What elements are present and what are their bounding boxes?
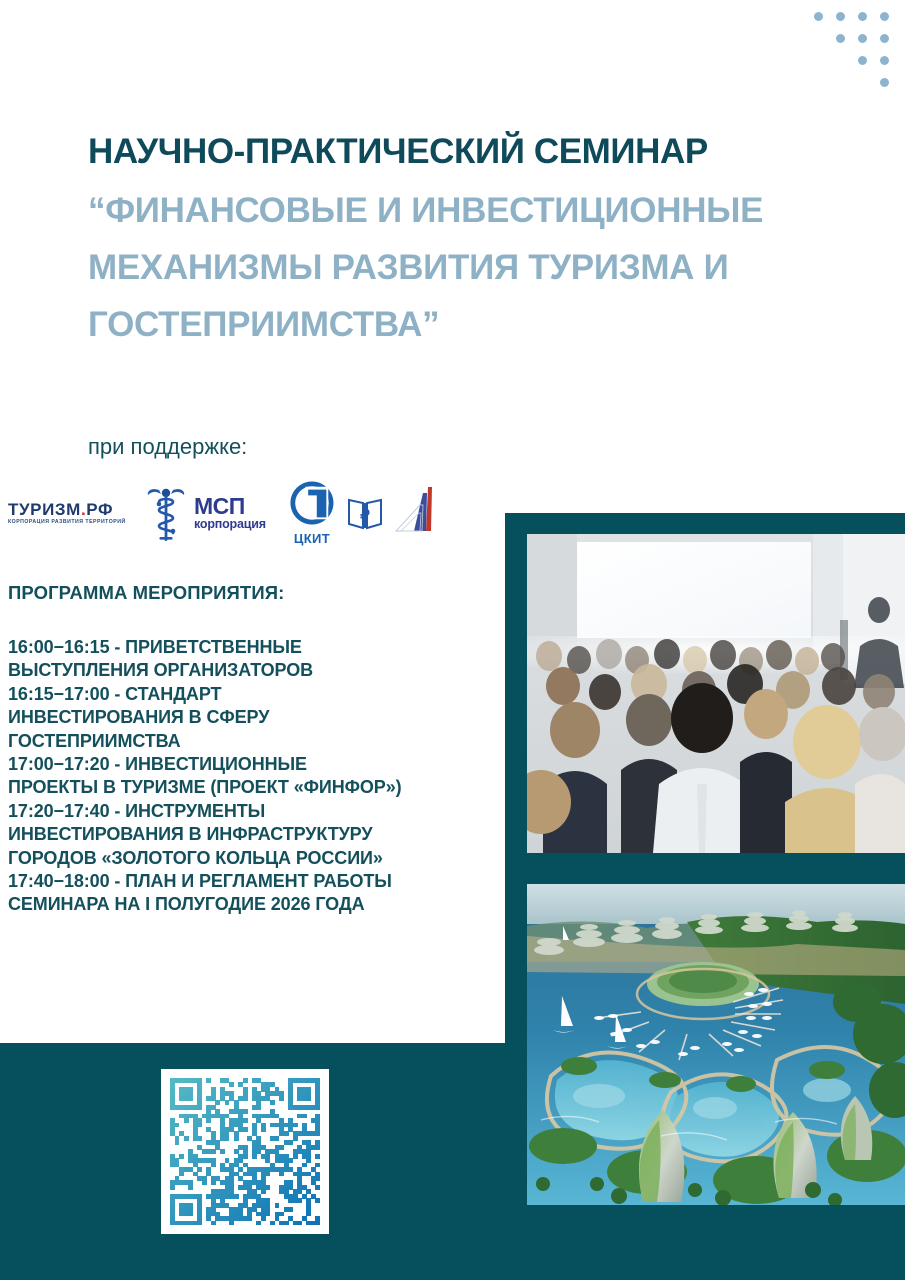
tourism-rf-logo: ТУРИЗМ.РФ КОРПОРАЦИЯ РАЗВИТИЯ ТЕРРИТОРИЙ (8, 501, 138, 525)
decorative-dot (836, 34, 845, 43)
program-block: ПРОГРАММА МЕРОПРИЯТИЯ: 16:00−16:15 - ПРИ… (0, 560, 505, 927)
decorative-dot (880, 78, 889, 87)
msp-korporaciya-logo: МСП корпорация (194, 496, 278, 530)
decorative-dot (880, 34, 889, 43)
page-title: НАУЧНО-ПРАКТИЧЕСКИЙ СЕМИНАР (88, 132, 788, 171)
qr-module (315, 1154, 320, 1159)
registration-qr-code[interactable] (161, 1069, 329, 1234)
qr-module (275, 1136, 280, 1141)
qr-module (206, 1118, 211, 1123)
tourism-rf-subtitle: КОРПОРАЦИЯ РАЗВИТИЯ ТЕРРИТОРИЙ (8, 520, 138, 525)
qr-module (197, 1136, 202, 1141)
qr-module (261, 1216, 266, 1221)
qr-module (261, 1127, 266, 1132)
qr-module (288, 1158, 293, 1163)
qr-module (243, 1118, 248, 1123)
qr-module (243, 1127, 248, 1132)
dot-grid-decoration (793, 12, 889, 90)
headline-quoted-line-3: ГОСТЕПРИИМСТВА” (88, 297, 788, 354)
qr-module (265, 1172, 270, 1177)
qr-matrix (170, 1078, 320, 1225)
qr-module (211, 1163, 216, 1168)
qr-module (284, 1221, 289, 1225)
headline-quoted-line-1: “ФИНАНСОВЫЕ И ИНВЕСТИЦИОННЫЕ (88, 183, 788, 240)
decorative-dot (836, 12, 845, 21)
program-item: 17:00−17:20 - ИНВЕСТИЦИОННЫЕ (8, 753, 497, 776)
qr-module (302, 1114, 307, 1119)
qr-module (234, 1194, 239, 1199)
conference-audience-photo (527, 534, 905, 853)
qr-module (229, 1221, 234, 1225)
tourism-rf-suffix: РФ (86, 500, 113, 519)
qr-module (315, 1131, 320, 1136)
program-item: 17:40−18:00 - ПЛАН И РЕГЛАМЕНТ РАБОТЫ (8, 870, 497, 893)
qr-module (270, 1100, 275, 1105)
qr-module (256, 1221, 261, 1225)
decorative-dot (880, 56, 889, 65)
ckit-logo: ЦКИТ (286, 481, 338, 546)
qr-module (279, 1096, 284, 1101)
decorative-dot (858, 56, 867, 65)
qr-module (220, 1149, 225, 1154)
qr-module (247, 1216, 252, 1221)
sponsor-logos-row: ТУРИЗМ.РФ КОРПОРАЦИЯ РАЗВИТИЯ ТЕРРИТОРИЙ (8, 474, 500, 552)
eco-resort-rendering-photo (527, 884, 905, 1205)
qr-module (306, 1096, 311, 1101)
qr-module (175, 1140, 180, 1145)
qr-module (288, 1140, 293, 1145)
qr-module (211, 1149, 216, 1154)
decorative-dot (858, 34, 867, 43)
qr-module (293, 1154, 298, 1159)
decorative-dot (814, 12, 823, 21)
qr-module (279, 1212, 284, 1217)
qr-module (315, 1105, 320, 1110)
qr-module (184, 1118, 189, 1123)
qr-module (206, 1078, 211, 1083)
qr-module (243, 1078, 248, 1083)
qr-module (306, 1158, 311, 1163)
decorative-dot (880, 12, 889, 21)
msp-subtitle: корпорация (194, 518, 278, 531)
qr-module (188, 1096, 193, 1101)
support-label: при поддержке: (88, 434, 247, 460)
program-item: ГОСТЕПРИИМСТВА (8, 730, 497, 753)
program-title: ПРОГРАММА МЕРОПРИЯТИЯ: (8, 582, 497, 604)
program-item: 17:20−17:40 - ИНСТРУМЕНТЫ (8, 800, 497, 823)
qr-module (279, 1172, 284, 1177)
qr-module (211, 1221, 216, 1225)
ruble-symbol: ₽ (360, 508, 370, 524)
qr-module (211, 1180, 216, 1185)
qr-module (197, 1123, 202, 1128)
qr-module (243, 1154, 248, 1159)
qr-module (315, 1163, 320, 1168)
qr-module (265, 1185, 270, 1190)
qr-module (256, 1105, 261, 1110)
qr-module (229, 1082, 234, 1087)
qr-module (188, 1212, 193, 1217)
program-item: ГОРОДОВ «ЗОЛОТОГО КОЛЬЦА РОССИИ» (8, 847, 497, 870)
qr-module (202, 1180, 207, 1185)
qr-module (215, 1100, 220, 1105)
book-ruble-logo: ₽ (346, 493, 384, 533)
qr-module (275, 1203, 280, 1208)
qr-module (284, 1131, 289, 1136)
qr-module (170, 1185, 175, 1190)
program-item: 16:00−16:15 - ПРИВЕТСТВЕННЫЕ (8, 636, 497, 659)
qr-module (315, 1221, 320, 1225)
headline-quoted: “ФИНАНСОВЫЕ И ИНВЕСТИЦИОННЫЕ МЕХАНИЗМЫ Р… (88, 183, 788, 353)
tourism-rf-wordmark: ТУРИЗМ.РФ (8, 501, 138, 518)
qr-module (175, 1123, 180, 1128)
msp-wordmark: МСП (194, 496, 278, 518)
sail-flag-logo (392, 483, 438, 543)
program-item: ИНВЕСТИРОВАНИЯ В ИНФРАСТРУКТУРУ (8, 823, 497, 846)
qr-module (243, 1096, 248, 1101)
qr-module (225, 1100, 230, 1105)
qr-module (243, 1109, 248, 1114)
qr-module (297, 1221, 302, 1225)
qr-module (315, 1145, 320, 1150)
qr-module (315, 1176, 320, 1181)
seminar-poster: НАУЧНО-ПРАКТИЧЕСКИЙ СЕМИНАР “ФИНАНСОВЫЕ … (0, 0, 905, 1280)
qr-module (315, 1185, 320, 1190)
qr-module (188, 1185, 193, 1190)
qr-module (261, 1189, 266, 1194)
program-item: ИНВЕСТИРОВАНИЯ В СФЕРУ (8, 706, 497, 729)
program-item: ВЫСТУПЛЕНИЯ ОРГАНИЗАТОРОВ (8, 659, 497, 682)
program-list: 16:00−16:15 - ПРИВЕТСТВЕННЫЕВЫСТУПЛЕНИЯ … (8, 636, 497, 917)
qr-module (302, 1163, 307, 1168)
program-item: 16:15−17:00 - СТАНДАРТ (8, 683, 497, 706)
qr-module (197, 1105, 202, 1110)
qr-module (179, 1172, 184, 1177)
qr-module (184, 1136, 189, 1141)
qr-module (293, 1136, 298, 1141)
qr-module (197, 1167, 202, 1172)
qr-module (225, 1136, 230, 1141)
ckit-label: ЦКИТ (286, 531, 338, 546)
caduceus-logo (146, 482, 186, 544)
headline-block: НАУЧНО-ПРАКТИЧЕСКИЙ СЕМИНАР “ФИНАНСОВЫЕ … (88, 132, 788, 353)
qr-module (252, 1154, 257, 1159)
qr-module (293, 1123, 298, 1128)
qr-module (197, 1221, 202, 1225)
program-item: ПРОЕКТЫ В ТУРИЗМЕ (ПРОЕКТ «ФИНФОР») (8, 776, 497, 799)
qr-module (179, 1154, 184, 1159)
qr-module (270, 1221, 275, 1225)
tourism-rf-title: ТУРИЗМ (8, 500, 81, 519)
qr-module (297, 1198, 302, 1203)
decorative-dot (858, 12, 867, 21)
qr-module (234, 1136, 239, 1141)
qr-module (279, 1145, 284, 1150)
qr-module (265, 1212, 270, 1217)
headline-quoted-line-2: МЕХАНИЗМЫ РАЗВИТИЯ ТУРИЗМА И (88, 240, 788, 297)
qr-module (288, 1207, 293, 1212)
qr-module (306, 1212, 311, 1217)
qr-module (315, 1198, 320, 1203)
program-item: СЕМИНАРА НА I ПОЛУГОДИЕ 2026 ГОДА (8, 893, 497, 916)
